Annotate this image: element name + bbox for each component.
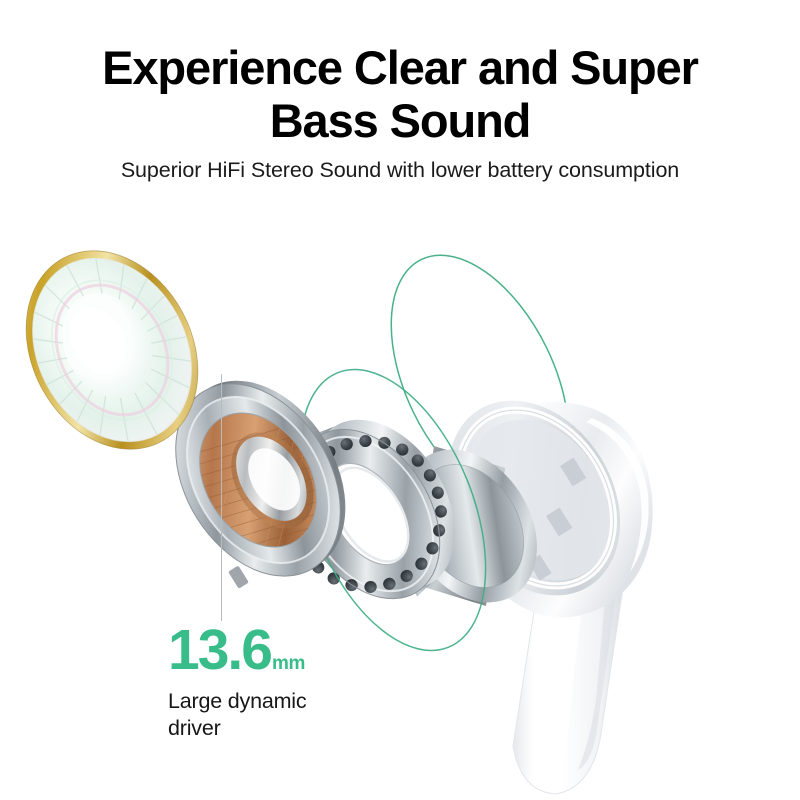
callout-leader-line: [221, 374, 222, 621]
product-feature-banner: Experience Clear and Super Bass Sound Su…: [0, 0, 800, 800]
spec-label: Large dynamic driver: [168, 688, 428, 743]
spec-callout: 13.6mm Large dynamic driver: [168, 622, 428, 743]
spec-unit: mm: [272, 653, 305, 674]
page-title: Experience Clear and Super Bass Sound: [0, 42, 800, 147]
spec-value: 13.6mm: [168, 622, 428, 679]
